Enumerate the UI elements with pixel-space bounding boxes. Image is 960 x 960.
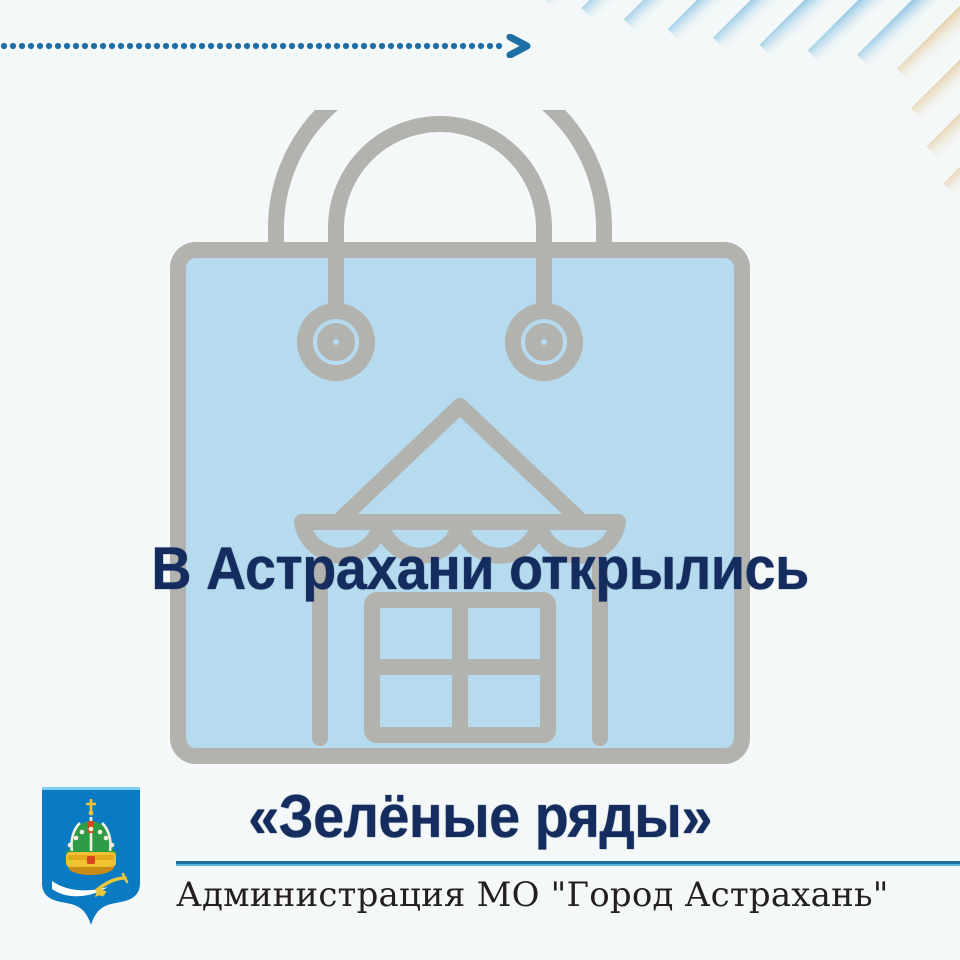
stripe-group-tan	[837, 0, 960, 331]
organization-label: Администрация МО "Город Астрахань"	[176, 875, 889, 915]
page-title-line-1: В Астрахани открылись	[34, 528, 927, 611]
footer-divider-bottom	[176, 864, 960, 866]
dot-sequence	[1, 43, 502, 49]
footer-divider	[176, 861, 960, 866]
poster-canvas: В Астрахани открылись «Зелёные ряды»	[0, 0, 960, 960]
chevron-right-icon	[510, 37, 527, 55]
footer: Администрация МО "Город Астрахань"	[0, 775, 960, 960]
dotted-arrow-rule	[0, 34, 545, 58]
astrakhan-coat-of-arms-icon	[40, 785, 142, 927]
